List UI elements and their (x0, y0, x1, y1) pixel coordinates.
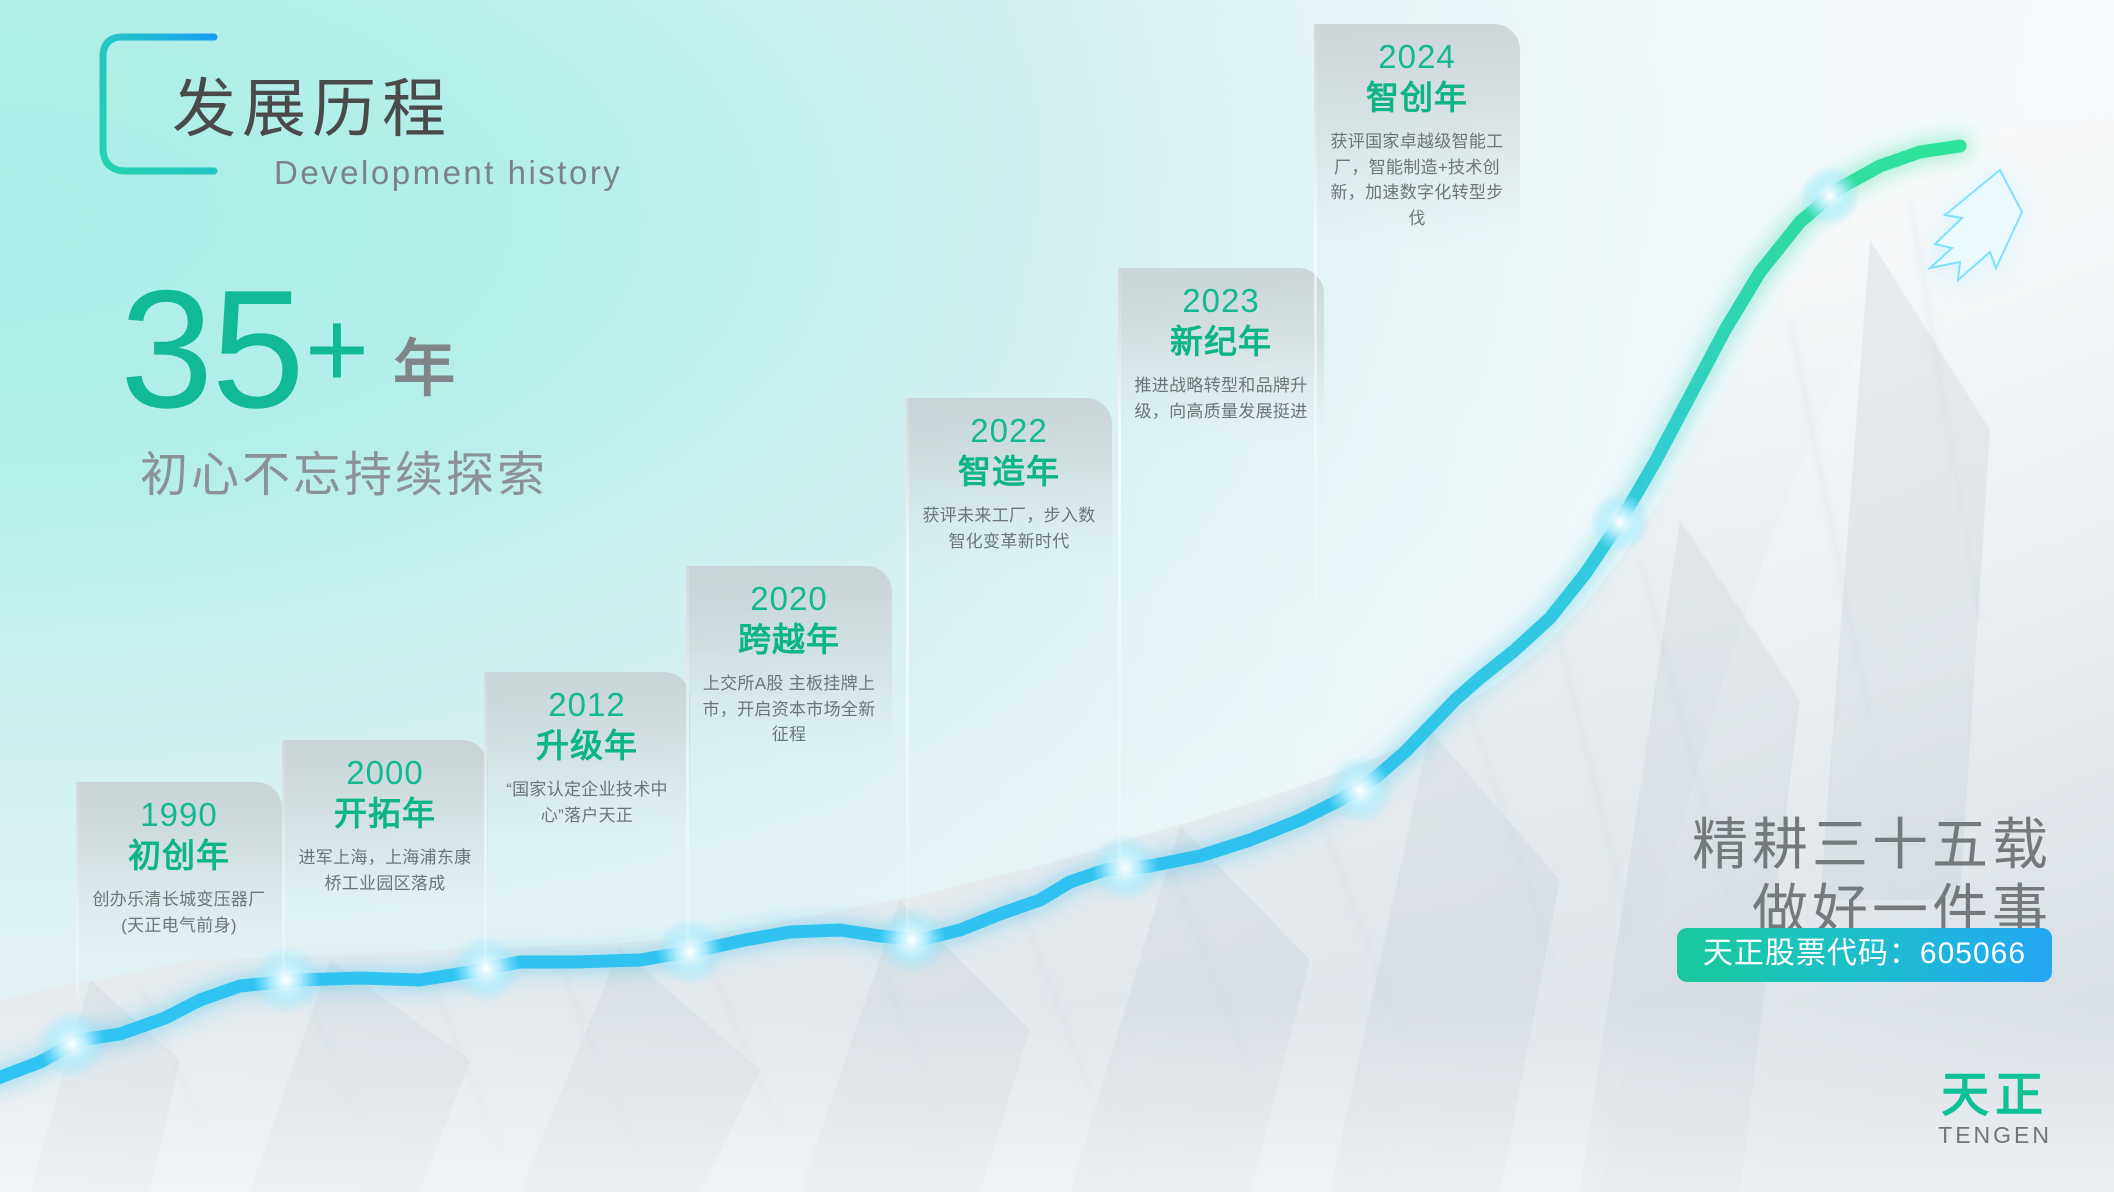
stock-code-badge: 天正股票代码：605066 (1677, 928, 2052, 982)
milestone-card[interactable]: 2012 升级年 “国家认定企业技术中心”落户天正 (484, 672, 690, 846)
milestone-tag: 初创年 (86, 835, 272, 876)
milestone-card[interactable]: 2024 智创年 获评国家卓越级智能工厂，智能制造+技术创新，加速数字化转型步伐 (1314, 24, 1520, 249)
milestone-card[interactable]: 2022 智造年 获评未来工厂，步入数智化变革新时代 (906, 398, 1112, 572)
milestone-card[interactable]: 2023 新纪年 推进战略转型和品牌升级，向高质量发展挺进 (1118, 268, 1324, 442)
page-title: 发展历程 (172, 78, 452, 142)
milestone-tag: 新纪年 (1128, 321, 1314, 362)
slogan-line-1: 精耕三十五载 (1692, 812, 2052, 878)
years-plus: + (305, 295, 369, 405)
milestone-year: 2012 (494, 686, 680, 724)
years-subtitle: 初心不忘持续探索 (140, 452, 548, 500)
milestone-desc: 推进战略转型和品牌升级，向高质量发展挺进 (1128, 373, 1314, 424)
milestone-card[interactable]: 1990 初创年 创办乐清长城变压器厂(天正电气前身) (76, 782, 282, 956)
years-highlight: 35 + 年 (120, 272, 455, 427)
milestone-desc: 上交所A股 主板挂牌上市，开启资本市场全新征程 (696, 671, 882, 748)
page-header: 发展历程 Development history (96, 26, 736, 196)
milestone-tag: 升级年 (494, 725, 680, 766)
years-unit: 年 (393, 339, 455, 401)
milestone-desc: 获评国家卓越级智能工厂，智能制造+技术创新，加速数字化转型步伐 (1324, 129, 1510, 231)
slogan: 精耕三十五载 做好一件事 (1692, 812, 2052, 944)
logo-en: TENGEN (1938, 1123, 2052, 1148)
milestone-desc: 获评未来工厂，步入数智化变革新时代 (916, 503, 1102, 554)
milestone-card[interactable]: 2020 跨越年 上交所A股 主板挂牌上市，开启资本市场全新征程 (686, 566, 892, 766)
milestone-year: 2000 (292, 754, 478, 792)
page-subtitle: Development history (274, 156, 622, 189)
milestone-tag: 跨越年 (696, 619, 882, 660)
milestone-year: 1990 (86, 796, 272, 834)
milestone-tag: 智创年 (1324, 77, 1510, 118)
company-logo: 天正 TENGEN (1938, 1070, 2052, 1148)
milestone-tag: 开拓年 (292, 793, 478, 834)
milestone-year: 2022 (916, 412, 1102, 450)
logo-cn: 天正 (1938, 1070, 2052, 1120)
milestone-card[interactable]: 2000 开拓年 进军上海，上海浦东康桥工业园区落成 (282, 740, 488, 914)
milestone-year: 2020 (696, 580, 882, 618)
milestone-tag: 智造年 (916, 451, 1102, 492)
milestone-desc: 进军上海，上海浦东康桥工业园区落成 (292, 845, 478, 896)
milestone-year: 2024 (1324, 38, 1510, 76)
development-history-poster: 发展历程 Development history 35 + 年 初心不忘持续探索… (0, 0, 2114, 1192)
years-number: 35 (120, 272, 303, 427)
milestone-desc: 创办乐清长城变压器厂(天正电气前身) (86, 887, 272, 938)
milestone-year: 2023 (1128, 282, 1314, 320)
milestone-desc: “国家认定企业技术中心”落户天正 (494, 777, 680, 828)
